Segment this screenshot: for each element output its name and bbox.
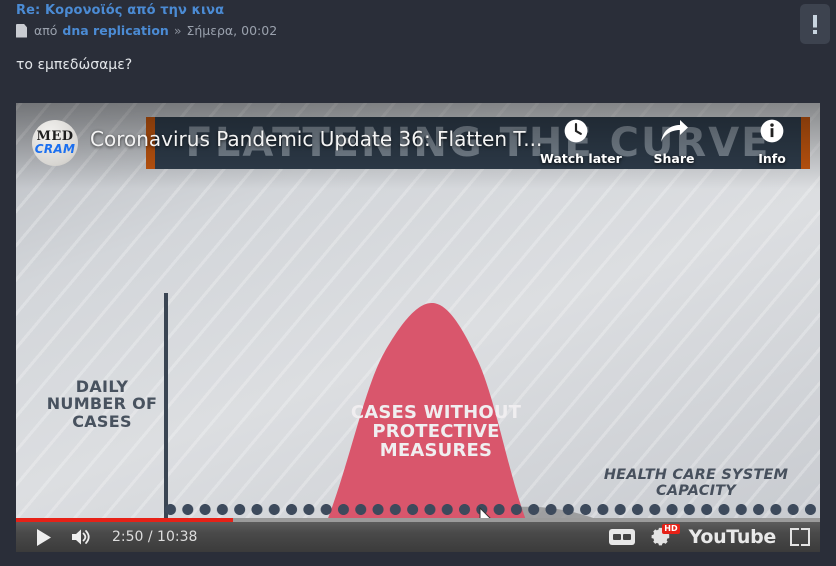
post-author-link[interactable]: dna replication — [62, 23, 168, 38]
document-icon — [16, 24, 27, 38]
info-circle-icon — [736, 117, 808, 145]
video-title[interactable]: Coronavirus Pandemic Update 36: Flatten … — [90, 127, 560, 151]
share-label: Share — [638, 151, 710, 166]
post-by-label: από — [34, 23, 57, 38]
player-top-actions: Watch later Share — [540, 117, 808, 166]
watch-later-label: Watch later — [540, 151, 612, 166]
fullscreen-corner-br — [801, 537, 810, 546]
forum-post-page: Re: Κορονοϊός από την κινα από dna repli… — [0, 0, 836, 566]
annotation-cases-without-measures: CASES WITHOUT PROTECTIVE MEASURES — [346, 403, 526, 460]
channel-avatar[interactable]: MED CRAM — [32, 120, 78, 166]
capacity-threshold-label: HEALTH CARE SYSTEM CAPACITY — [596, 468, 796, 500]
cc-icon-bar-left — [613, 534, 621, 540]
controls-right-group: HD YouTube — [609, 522, 810, 552]
player-controls-bar: 2:50 / 10:38 HD YouTube — [16, 522, 820, 552]
report-post-button[interactable] — [800, 4, 830, 44]
chart-y-axis — [164, 293, 168, 522]
info-label: Info — [736, 151, 808, 166]
video-viewport[interactable]: FLATTENING THE CURVE DAILY NUMBER OF CAS… — [16, 103, 820, 522]
watch-later-button[interactable]: Watch later — [540, 117, 612, 166]
settings-button[interactable]: HD — [649, 526, 675, 548]
volume-icon — [71, 528, 93, 546]
captions-button[interactable] — [609, 529, 635, 545]
info-button[interactable]: Info — [736, 117, 808, 166]
fullscreen-button[interactable] — [790, 528, 810, 546]
volume-button[interactable] — [64, 522, 100, 552]
fullscreen-corner-tr — [801, 528, 810, 537]
clock-icon — [540, 117, 612, 145]
fullscreen-corner-bl — [790, 537, 799, 546]
time-display: 2:50 / 10:38 — [112, 529, 197, 545]
controls-left-group: 2:50 / 10:38 — [26, 522, 197, 552]
post-body-text: το εμπεδώσαμε? — [16, 57, 132, 73]
post-title-link[interactable]: Re: Κορονοϊός από την κινα — [16, 3, 224, 18]
quality-hd-badge: HD — [662, 524, 679, 534]
chart-y-axis-label: DAILY NUMBER OF CASES — [46, 378, 158, 430]
exclamation-icon — [813, 15, 817, 34]
post-meta: από dna replication » Σήμερα, 00:02 — [16, 23, 277, 38]
fullscreen-corner-tl — [790, 528, 799, 537]
youtube-video-player[interactable]: FLATTENING THE CURVE DAILY NUMBER OF CAS… — [16, 103, 820, 552]
capacity-threshold-line — [164, 503, 816, 516]
youtube-brand-link[interactable]: YouTube — [689, 526, 776, 548]
play-button[interactable] — [26, 522, 62, 552]
post-timestamp: Σήμερα, 00:02 — [186, 23, 277, 38]
share-button[interactable]: Share — [638, 117, 710, 166]
share-arrow-icon — [638, 117, 710, 145]
play-icon — [36, 529, 52, 546]
channel-logo-bottom-text: CRAM — [35, 143, 75, 155]
cc-icon-bar-right — [623, 534, 631, 540]
meta-separator: » — [174, 23, 182, 38]
